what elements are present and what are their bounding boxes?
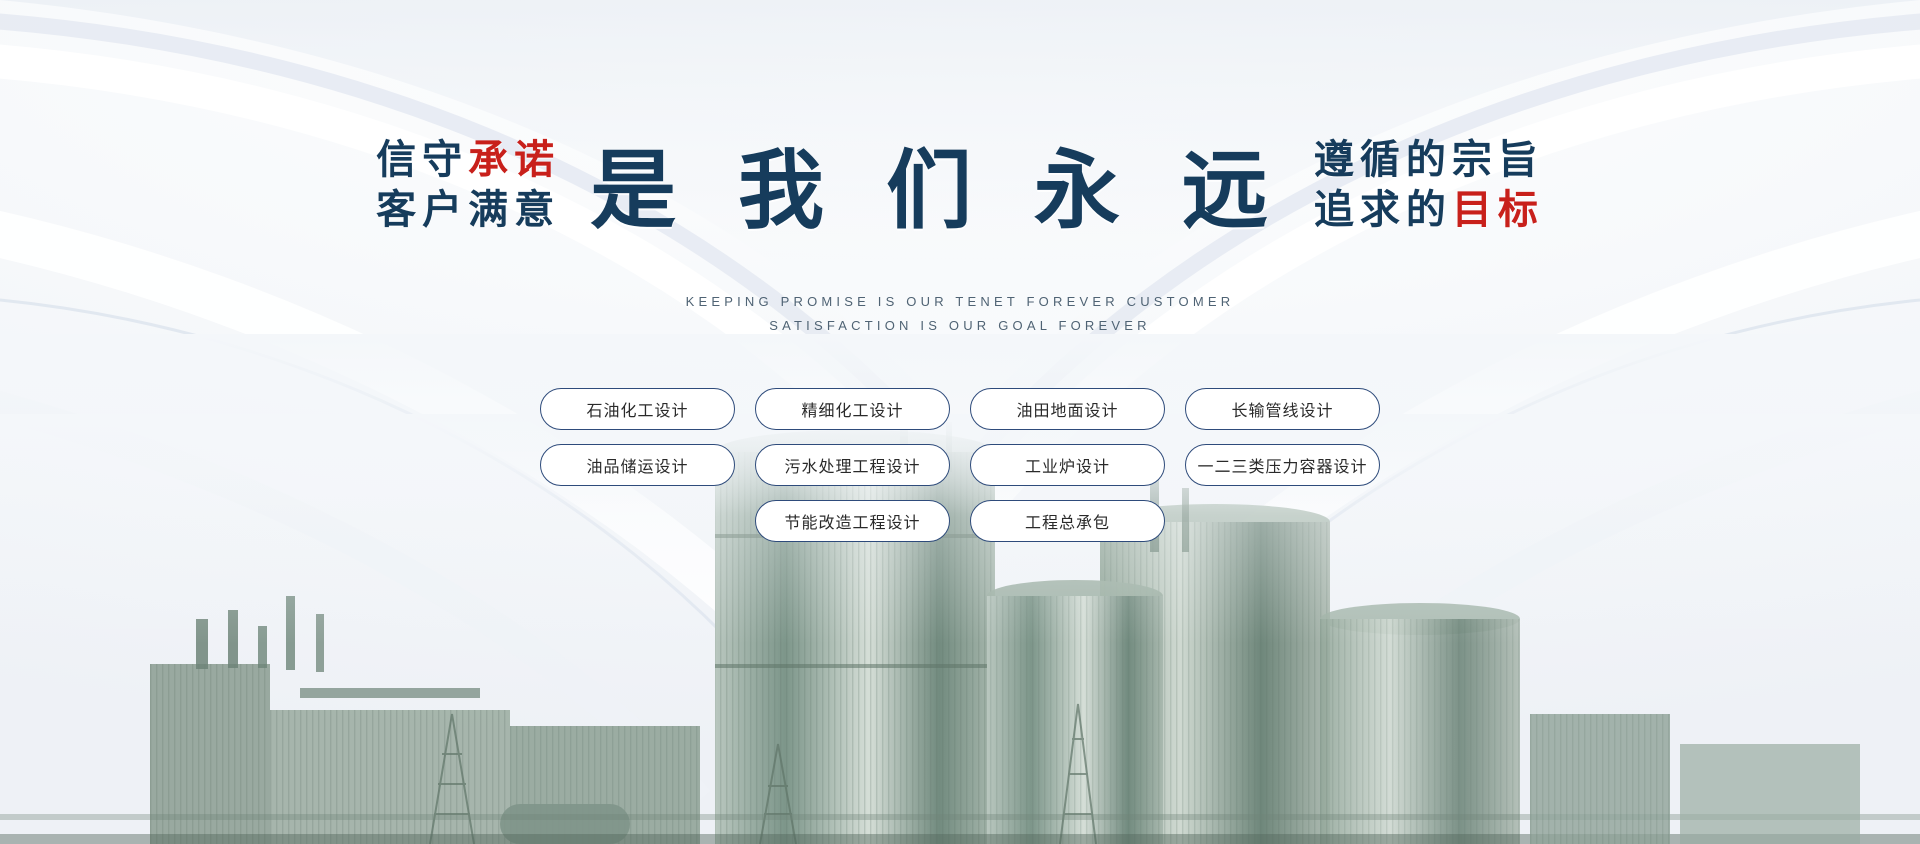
service-pill[interactable]: 油品储运设计 [540,444,735,486]
service-pill[interactable]: 工程总承包 [970,500,1165,542]
headline-left-line1-part1: 信守 [376,138,468,182]
headline-right-column: 遵循的宗旨 追求的 目标 [1314,138,1544,238]
subtitle: KEEPING PROMISE IS OUR TENET FOREVER CUS… [0,290,1920,338]
headline-right-line1: 遵循的宗旨 [1314,138,1544,182]
headline: 信守 承诺 客户满意 是 我 们 永 远 遵循的宗旨 追求的 目标 [0,138,1920,238]
headline-left-line1: 信守 承诺 [376,138,560,182]
pill-spacer [1185,500,1380,542]
headline-right-line2-part1: 追求的 [1314,188,1452,232]
service-pill[interactable]: 长输管线设计 [1185,388,1380,430]
service-pill-grid: 石油化工设计精细化工设计油田地面设计长输管线设计油品储运设计污水处理工程设计工业… [0,388,1920,542]
service-pill[interactable]: 污水处理工程设计 [755,444,950,486]
service-pill[interactable]: 一二三类压力容器设计 [1185,444,1380,486]
service-pill[interactable]: 石油化工设计 [540,388,735,430]
service-pill[interactable]: 工业炉设计 [970,444,1165,486]
subtitle-line-2: SATISFACTION IS OUR GOAL FOREVER [0,314,1920,338]
pill-spacer [540,500,735,542]
headline-right-line2-part2-accent: 目标 [1452,188,1544,232]
headline-right-line2: 追求的 目标 [1314,188,1544,232]
headline-left-line1-part2-accent: 承诺 [468,138,560,182]
service-pill[interactable]: 节能改造工程设计 [755,500,950,542]
headline-left-column: 信守 承诺 客户满意 [376,138,560,238]
service-pill[interactable]: 精细化工设计 [755,388,950,430]
hero-banner: 信守 承诺 客户满意 是 我 们 永 远 遵循的宗旨 追求的 目标 KEEPIN… [0,0,1920,844]
subtitle-line-1: KEEPING PROMISE IS OUR TENET FOREVER CUS… [0,290,1920,314]
headline-left-line2: 客户满意 [376,188,560,232]
service-pill[interactable]: 油田地面设计 [970,388,1165,430]
headline-center: 是 我 们 永 远 [578,146,1296,238]
headline-left-line2-part1: 客户满意 [376,188,560,232]
headline-right-line1-part1: 遵循的宗旨 [1314,138,1544,182]
